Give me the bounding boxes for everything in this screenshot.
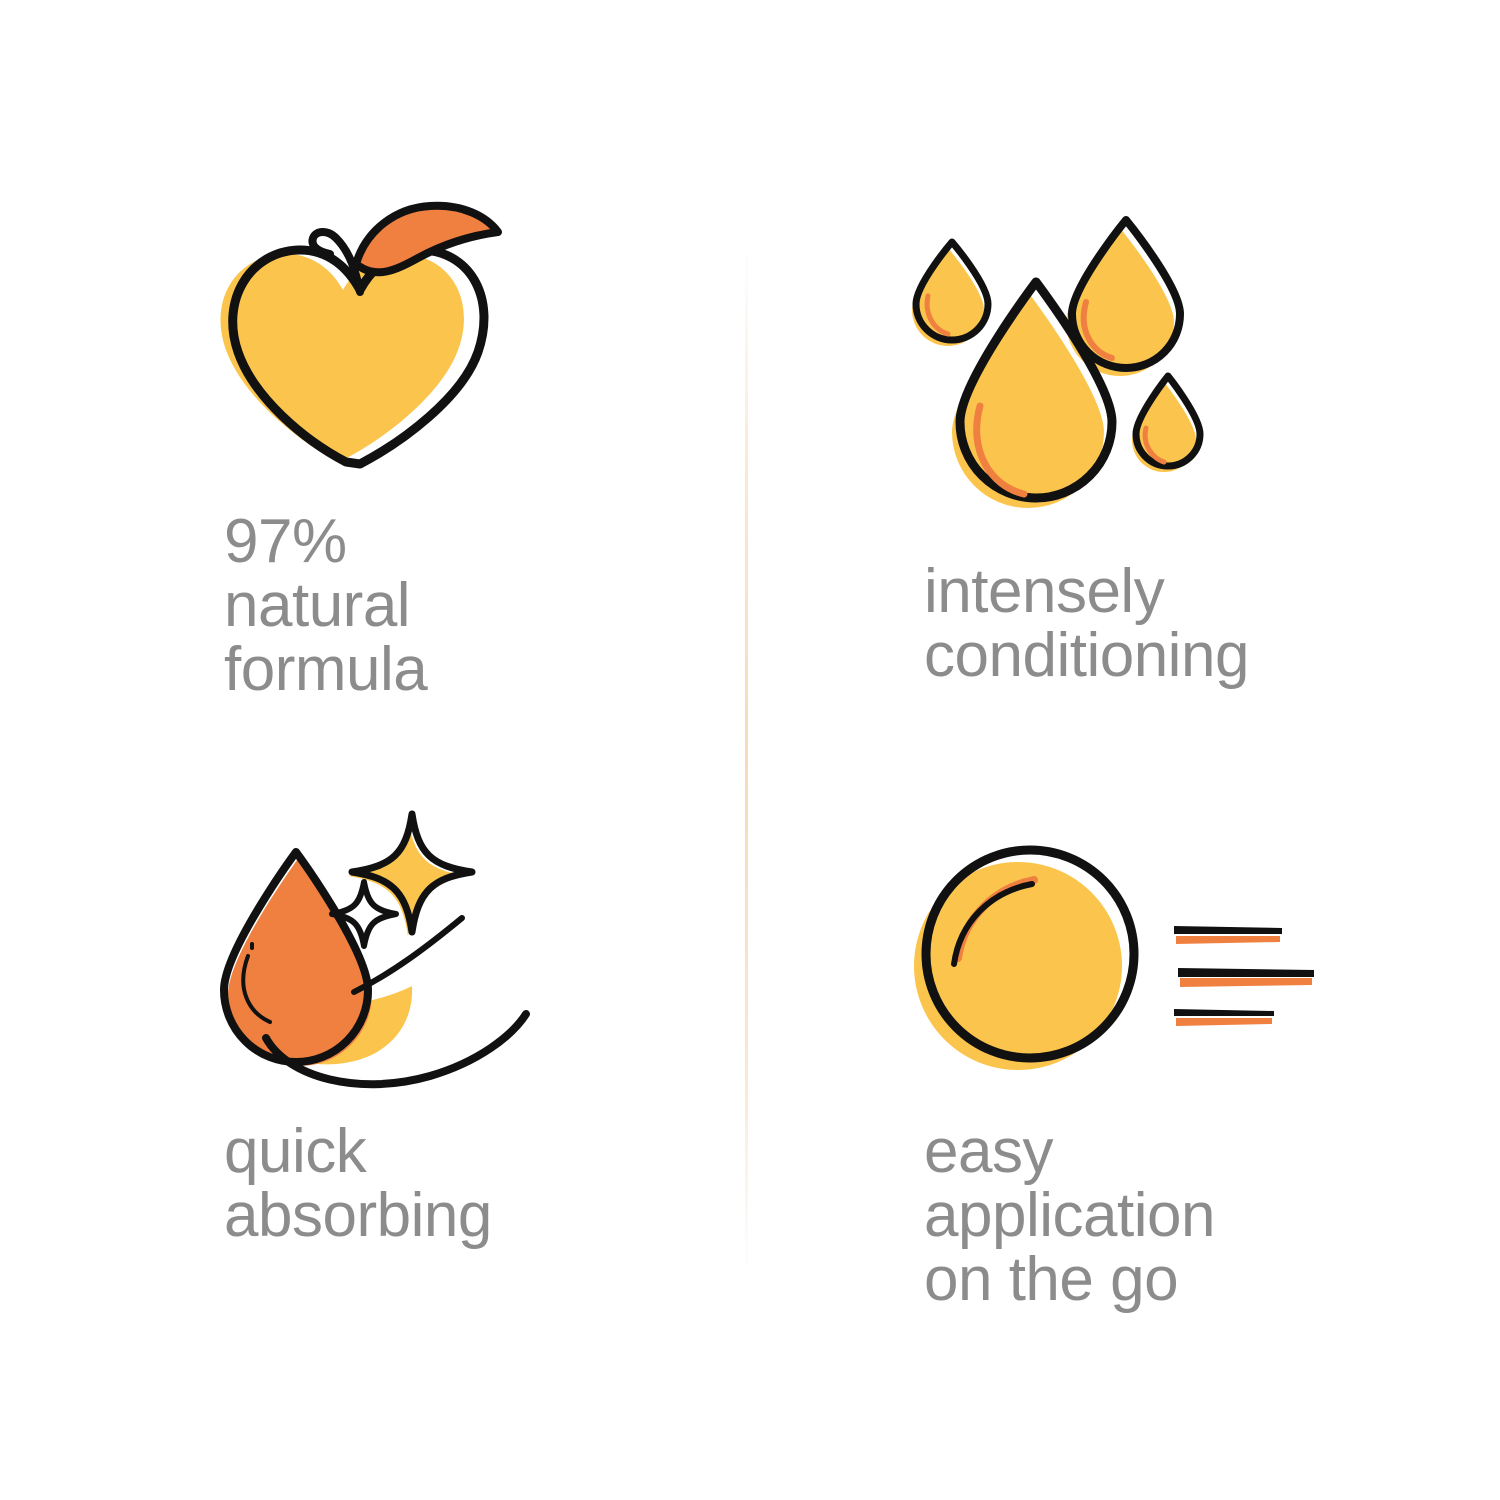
feature-caption-easy: easy application on the go [924,1120,1215,1312]
feature-caption-absorbing: quick absorbing [224,1120,492,1248]
speed-line-bottom-orange [1176,1018,1272,1026]
feature-card-absorbing: quick absorbing [180,780,725,1340]
speed-line-bottom-ink [1174,1009,1274,1016]
speed-line-top-orange [1176,936,1280,944]
speed-line-middle-ink [1178,968,1314,977]
oil-droplets-icon [900,210,1240,540]
feature-caption-natural: 97% natural formula [224,510,427,702]
speed-line-middle-orange [1180,978,1312,987]
infographic-page: 97% natural formula [0,0,1500,1500]
rolling-ball-speed-icon [914,826,1314,1096]
peach-icon [180,190,520,490]
peach-body-fill [221,254,464,460]
feature-card-easy: easy application on the go [880,780,1440,1340]
speed-line-top-ink [1174,926,1282,934]
feature-card-natural: 97% natural formula [180,190,725,750]
feature-card-conditioning: intensely conditioning [880,190,1440,750]
vertical-divider [745,255,748,1270]
feature-caption-conditioning: intensely conditioning [924,560,1249,688]
absorbing-droplet-sparkle-icon [204,800,564,1120]
